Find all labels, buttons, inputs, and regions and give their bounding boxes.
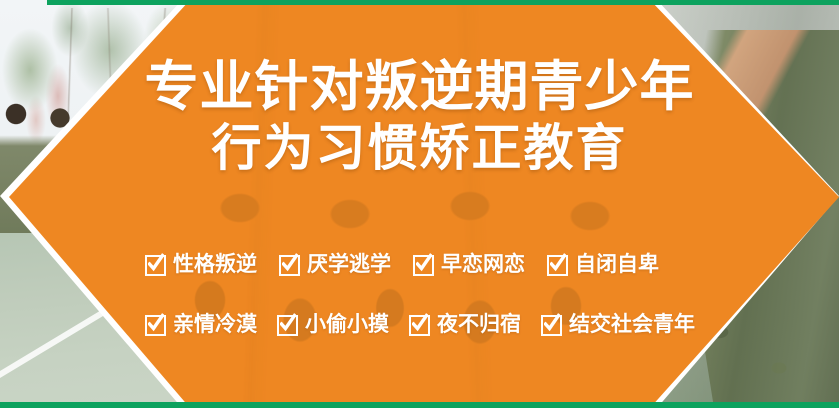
headline: 专业针对叛逆期青少年 行为习惯矫正教育 <box>0 56 839 178</box>
symptom-checklist: 性格叛逆 厌学逃学 早恋网恋 自闭自卑 <box>145 238 745 352</box>
checklist-item-label: 夜不归宿 <box>437 314 521 336</box>
checklist-item[interactable]: 厌学逃学 <box>279 254 391 276</box>
checklist-item[interactable]: 性格叛逆 <box>145 254 257 276</box>
bottom-green-rule <box>0 402 839 408</box>
checkbox-checked-icon <box>145 255 166 276</box>
checkbox-checked-icon <box>409 315 430 336</box>
checklist-item-label: 性格叛逆 <box>173 254 257 276</box>
checkbox-checked-icon <box>145 315 166 336</box>
top-green-rule <box>47 0 839 5</box>
checklist-item[interactable]: 亲情冷漠 <box>145 314 257 336</box>
checklist-item-label: 亲情冷漠 <box>173 314 257 336</box>
headline-line-1: 专业针对叛逆期青少年 <box>0 56 839 118</box>
checklist-row-2: 亲情冷漠 小偷小摸 夜不归宿 结交社会青年 <box>145 298 745 352</box>
checklist-item-label: 结交社会青年 <box>569 314 695 336</box>
checklist-item[interactable]: 夜不归宿 <box>409 314 521 336</box>
checklist-item[interactable]: 小偷小摸 <box>277 314 389 336</box>
checkbox-checked-icon <box>413 255 434 276</box>
checkbox-checked-icon <box>541 315 562 336</box>
checklist-item-label: 自闭自卑 <box>575 254 659 276</box>
checklist-item[interactable]: 早恋网恋 <box>413 254 525 276</box>
checklist-row-1: 性格叛逆 厌学逃学 早恋网恋 自闭自卑 <box>145 238 745 292</box>
checklist-item-label: 厌学逃学 <box>307 254 391 276</box>
headline-line-2: 行为习惯矫正教育 <box>0 118 839 178</box>
promo-banner: 专业针对叛逆期青少年 行为习惯矫正教育 性格叛逆 厌学逃学 早恋网恋 <box>0 0 839 408</box>
checklist-item-label: 早恋网恋 <box>441 254 525 276</box>
checklist-item-label: 小偷小摸 <box>305 314 389 336</box>
checkbox-checked-icon <box>277 315 298 336</box>
checklist-item[interactable]: 结交社会青年 <box>541 314 695 336</box>
checklist-item[interactable]: 自闭自卑 <box>547 254 659 276</box>
checkbox-checked-icon <box>279 255 300 276</box>
checkbox-checked-icon <box>547 255 568 276</box>
